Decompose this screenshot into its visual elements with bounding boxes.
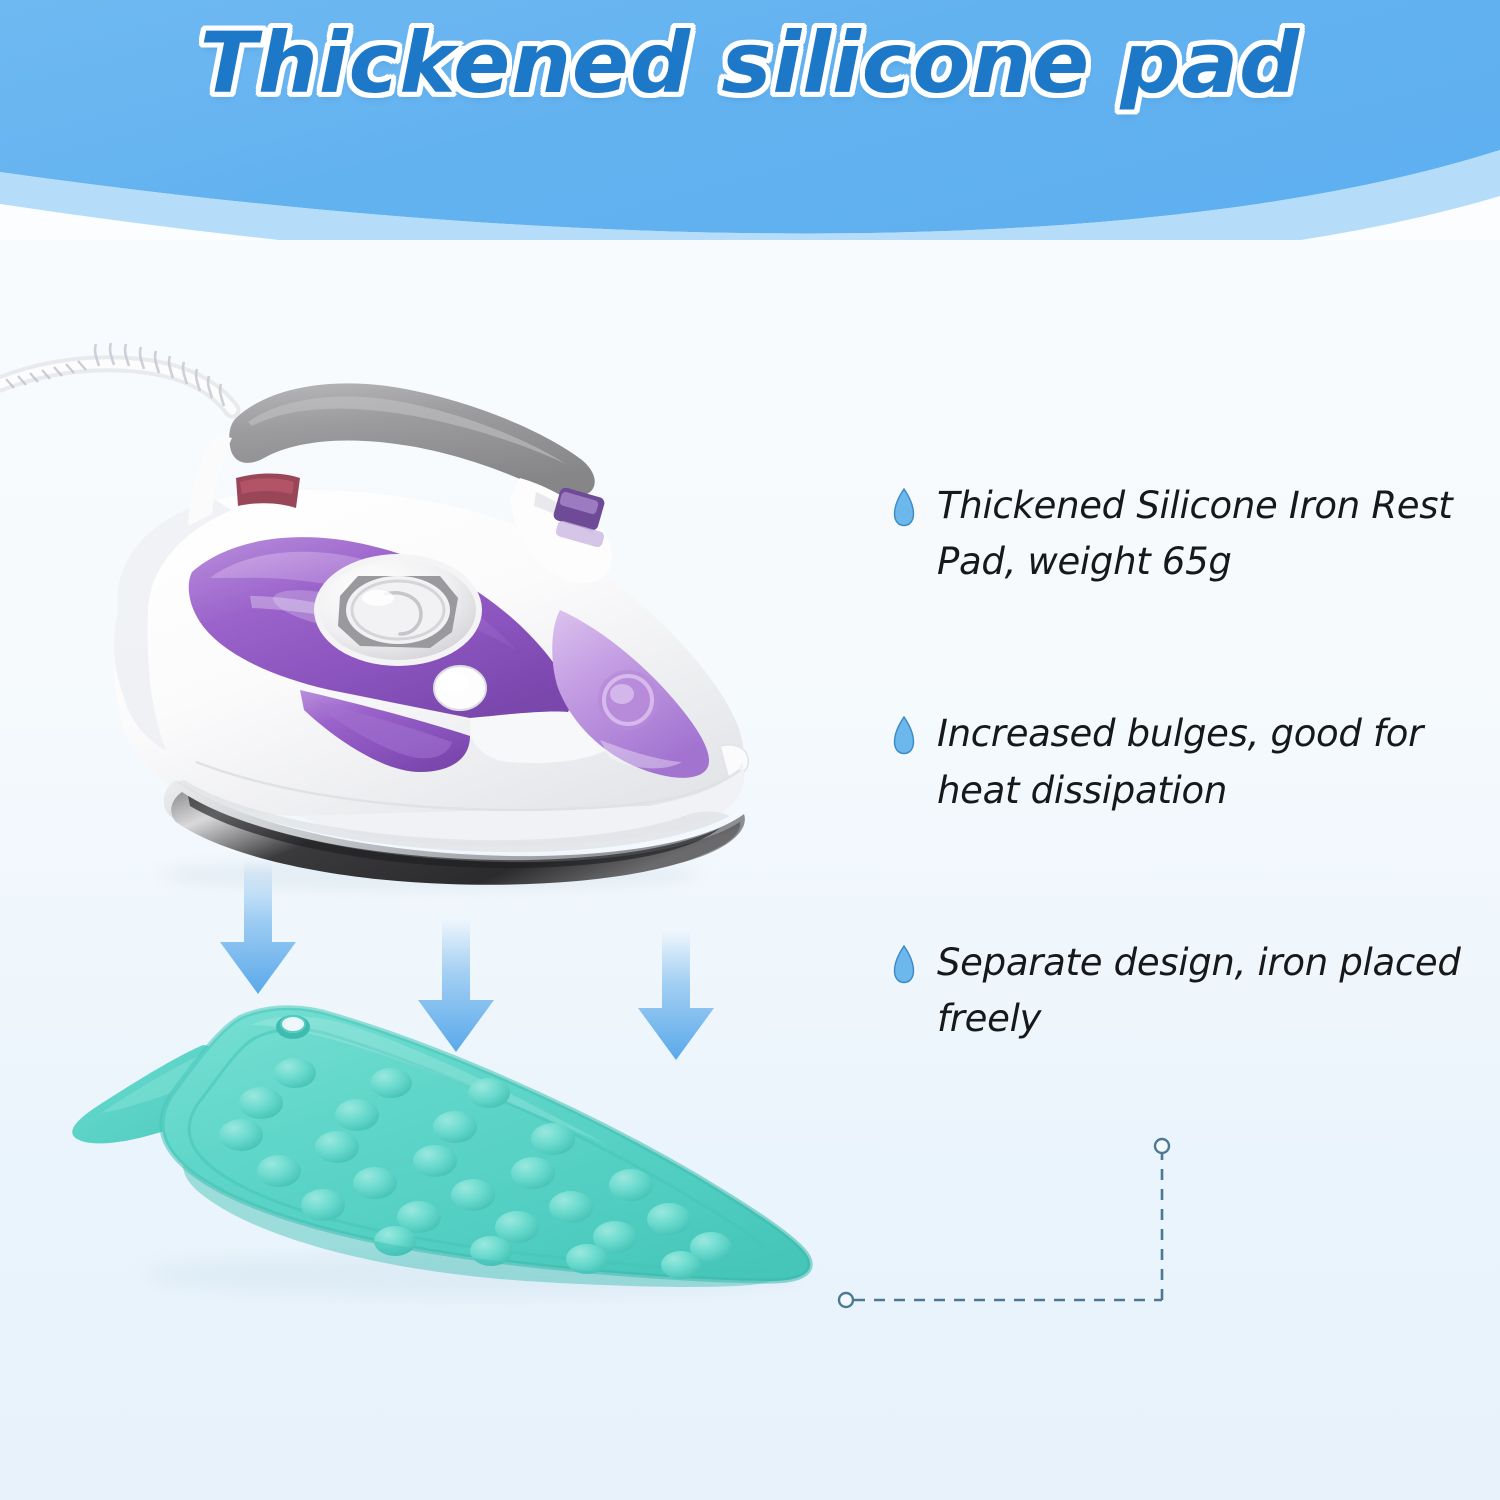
header-banner: Thickened silicone pad [0, 0, 1500, 240]
feature-text: Increased bulges, good for heat dissipat… [937, 706, 1482, 818]
power-cord [0, 343, 232, 410]
feature-item: Thickened Silicone Iron Rest Pad, weight… [893, 478, 1483, 590]
leader-endpoint [1155, 1139, 1169, 1153]
dimension-callout [820, 1120, 1240, 1330]
page-title: Thickened silicone pad [0, 14, 1500, 112]
down-arrow [220, 860, 296, 994]
temperature-dial[interactable] [314, 554, 482, 666]
iron-drop-bullet-icon [893, 945, 915, 985]
leader-endpoint [839, 1293, 853, 1307]
feature-text: Thickened Silicone Iron Rest Pad, weight… [937, 478, 1482, 590]
feature-list: Thickened Silicone Iron Rest Pad, weight… [893, 478, 1483, 1047]
pad-hanging-hole [276, 1015, 310, 1039]
feature-text: Separate design, iron placed freely [937, 935, 1482, 1047]
iron-illustration [0, 310, 830, 930]
iron-drop-bullet-icon [893, 716, 915, 756]
infographic-page: Thickened silicone pad [0, 0, 1500, 1500]
silicone-pad-image [55, 975, 885, 1305]
pad-illustration [55, 975, 885, 1305]
dashed-leader-line [820, 1120, 1240, 1330]
iron-drop-bullet-icon [893, 488, 915, 528]
steam-iron-image [0, 310, 830, 930]
feature-item: Separate design, iron placed freely [893, 935, 1483, 1047]
feature-item: Increased bulges, good for heat dissipat… [893, 706, 1483, 818]
